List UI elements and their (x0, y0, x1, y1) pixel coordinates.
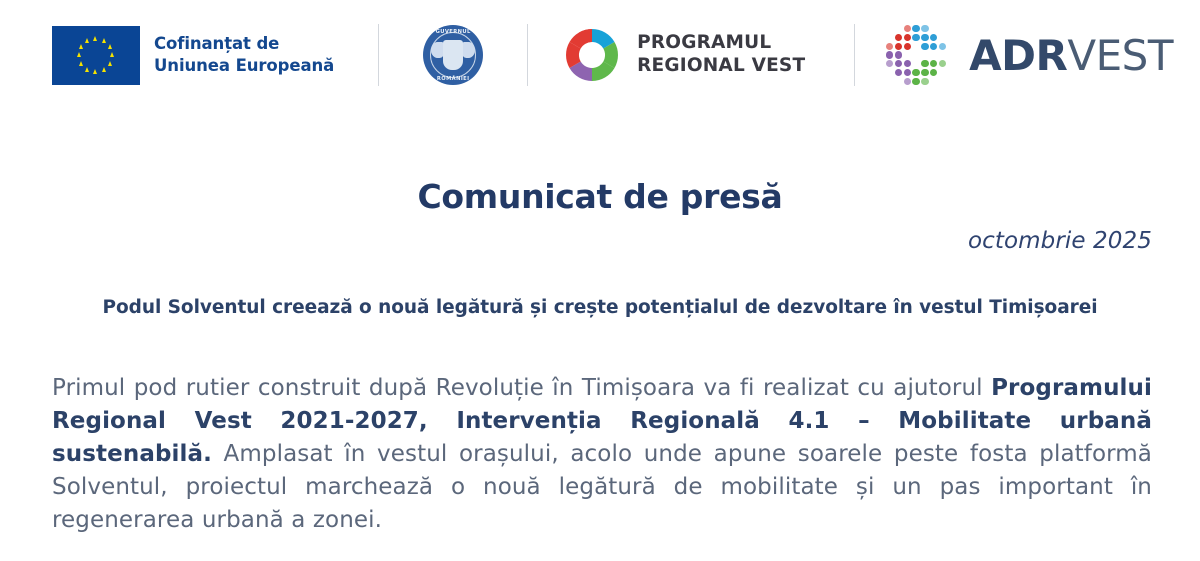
program-swirl-svg (561, 24, 623, 86)
eu-funding-line1: Cofinanțat de (154, 34, 279, 53)
adr-logo-dot (921, 60, 928, 67)
programul-regional-vest-logo: PROGRAMUL REGIONAL VEST (528, 24, 838, 86)
adr-light-text: VEST (1067, 31, 1173, 80)
european-union-flag-icon (52, 26, 140, 85)
eu-star-icon (110, 52, 114, 57)
program-line1: PROGRAMUL (637, 32, 805, 55)
adr-logo-dot (912, 34, 919, 41)
adr-logo-dot (895, 43, 902, 50)
eagle-shield (443, 40, 463, 70)
adr-logo-dot (921, 43, 928, 50)
program-line2: REGIONAL VEST (637, 55, 805, 78)
adr-logo-dot (904, 60, 911, 67)
eu-funding-line2: Uniunea Europeană (154, 56, 334, 75)
adr-logo-dot (912, 69, 919, 76)
logo-header-bar: Cofinanțat de Uniunea Europeană GUVERNUL… (0, 0, 1200, 110)
adr-logo-dot (921, 78, 928, 85)
adr-logo-dot (904, 43, 911, 50)
eu-star-icon (79, 61, 83, 66)
eu-star-icon (79, 44, 83, 49)
adr-logo-dot (921, 34, 928, 41)
adr-logo-dot (921, 69, 928, 76)
eu-star-icon (85, 67, 89, 72)
seal-top-text: GUVERNUL (423, 29, 483, 35)
romanian-government-logo: GUVERNUL ROMÂNIEI (379, 25, 527, 85)
article-subtitle: Podul Solventul creează o nouă legătură … (0, 297, 1200, 318)
government-seal-icon: GUVERNUL ROMÂNIEI (423, 25, 483, 85)
adr-logo-dot (904, 25, 911, 32)
eu-funding-label: Cofinanțat de Uniunea Europeană (154, 33, 334, 77)
adr-logo-dot (930, 43, 937, 50)
adr-vest-wordmark: ADRVEST (969, 31, 1173, 80)
header-divider-3 (854, 24, 855, 86)
article-paragraph: Primul pod rutier construit după Revoluț… (52, 372, 1152, 536)
adr-logo-dot (939, 60, 946, 67)
program-swirl-icon (561, 24, 623, 86)
publication-date: octombrie 2025 (0, 228, 1152, 254)
eu-star-icon (108, 44, 112, 49)
eu-funding-logo: Cofinanțat de Uniunea Europeană (52, 26, 334, 85)
adr-logo-dot (912, 25, 919, 32)
program-line2-bold: VEST (752, 55, 806, 76)
adr-logo-dot (930, 34, 937, 41)
adr-logo-dot (886, 43, 893, 50)
adr-logo-dot (886, 60, 893, 67)
adr-logo-dot (895, 34, 902, 41)
adr-logo-dot (886, 51, 893, 58)
adr-dot-matrix-icon (885, 24, 947, 86)
eu-star-icon (93, 36, 97, 41)
adr-logo-dot (904, 34, 911, 41)
adr-vest-logo: ADRVEST (885, 24, 1173, 86)
adr-logo-dot (895, 60, 902, 67)
adr-logo-dot (930, 69, 937, 76)
program-name-label: PROGRAMUL REGIONAL VEST (637, 32, 805, 77)
document-body: Comunicat de presă octombrie 2025 Podul … (0, 110, 1200, 536)
eu-star-icon (102, 38, 106, 43)
page-title: Comunicat de presă (0, 177, 1200, 216)
eu-star-icon (102, 67, 106, 72)
adr-logo-dot (912, 78, 919, 85)
paragraph-part2: Amplasat în vestul orașului, acolo unde … (52, 441, 1152, 533)
adr-logo-dot (921, 25, 928, 32)
program-line2-regular: REGIONAL (637, 55, 752, 76)
adr-bold-text: ADR (969, 31, 1067, 80)
adr-logo-dot (939, 43, 946, 50)
adr-logo-dot (904, 78, 911, 85)
seal-bottom-text: ROMÂNIEI (423, 76, 483, 82)
adr-logo-dot (895, 69, 902, 76)
eu-star-icon (108, 61, 112, 66)
eu-star-icon (77, 52, 81, 57)
adr-logo-dot (930, 60, 937, 67)
adr-logo-dot (895, 51, 902, 58)
adr-logo-dot (904, 69, 911, 76)
press-release-page: { "header": { "eu": { "line1": "Cofinanț… (0, 0, 1200, 561)
paragraph-part1: Primul pod rutier construit după Revoluț… (52, 375, 991, 401)
eu-star-icon (85, 38, 89, 43)
eu-star-icon (93, 69, 97, 74)
